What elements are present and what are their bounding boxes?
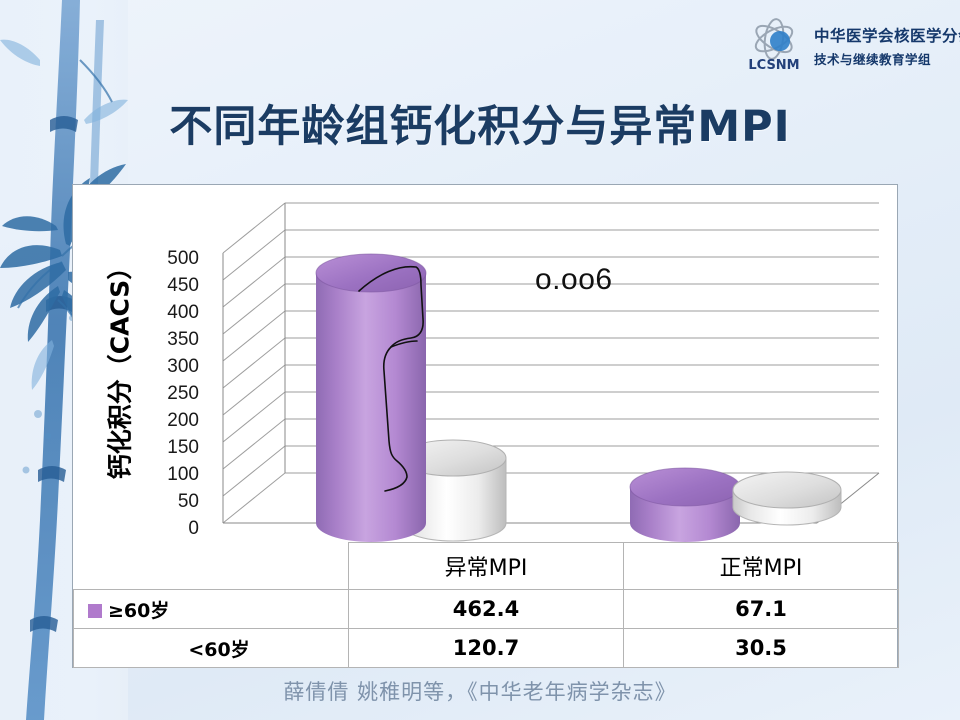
bar-normal-mpi-ge60	[630, 468, 740, 542]
citation-text: 薛倩倩 姚稚明等，《中华老年病学杂志》	[0, 676, 960, 706]
column-header-abnormal-mpi: 异常MPI	[349, 543, 624, 590]
cell-lt60-abnormal-mpi: 120.7	[349, 629, 624, 668]
logo-line-2: 技术与继续教育学组	[814, 49, 960, 68]
legend-item-ge60: ≥60岁	[74, 590, 349, 629]
legend-swatch-lt60	[168, 643, 182, 657]
cell-lt60-normal-mpi: 30.5	[624, 629, 899, 668]
table-corner-cell	[74, 543, 349, 590]
pvalue-label: o.oo6	[535, 263, 613, 297]
column-header-normal-mpi: 正常MPI	[624, 543, 899, 590]
legend-item-lt60: <60岁	[74, 629, 349, 668]
cell-ge60-abnormal-mpi: 462.4	[349, 590, 624, 629]
table-row: <60岁 120.7 30.5	[74, 629, 899, 668]
legend-label-ge60: ≥60岁	[108, 600, 169, 622]
logo-mark-text: LCSNM	[748, 58, 799, 73]
chart-data-table: 异常MPI 正常MPI ≥60岁 462.4 67.1 <60岁 120.7 3…	[73, 542, 899, 668]
slide-canvas: LCSNM 中华医学会核医学分会 技术与继续教育学组 不同年龄组钙化积分与异常M…	[0, 0, 960, 720]
chart-panel: 钙化积分（CACS） 500 450 400 350 300 250 200 1…	[72, 184, 898, 668]
page-title: 不同年龄组钙化积分与异常MPI	[0, 92, 960, 154]
bar-chart-3d: 钙化积分（CACS） 500 450 400 350 300 250 200 1…	[73, 185, 899, 550]
chart-plot-svg	[73, 185, 899, 550]
legend-swatch-ge60	[88, 604, 102, 618]
bar-abnormal-mpi-ge60	[316, 254, 426, 542]
legend-label-lt60: <60岁	[188, 639, 249, 661]
logo-line-1: 中华医学会核医学分会	[814, 24, 960, 46]
table-row: ≥60岁 462.4 67.1	[74, 590, 899, 629]
table-header-row: 异常MPI 正常MPI	[74, 543, 899, 590]
atom-icon: LCSNM	[744, 13, 808, 77]
organization-logo: LCSNM 中华医学会核医学分会 技术与继续教育学组	[744, 8, 954, 82]
cell-ge60-normal-mpi: 67.1	[624, 590, 899, 629]
bar-normal-mpi-lt60	[733, 472, 841, 525]
